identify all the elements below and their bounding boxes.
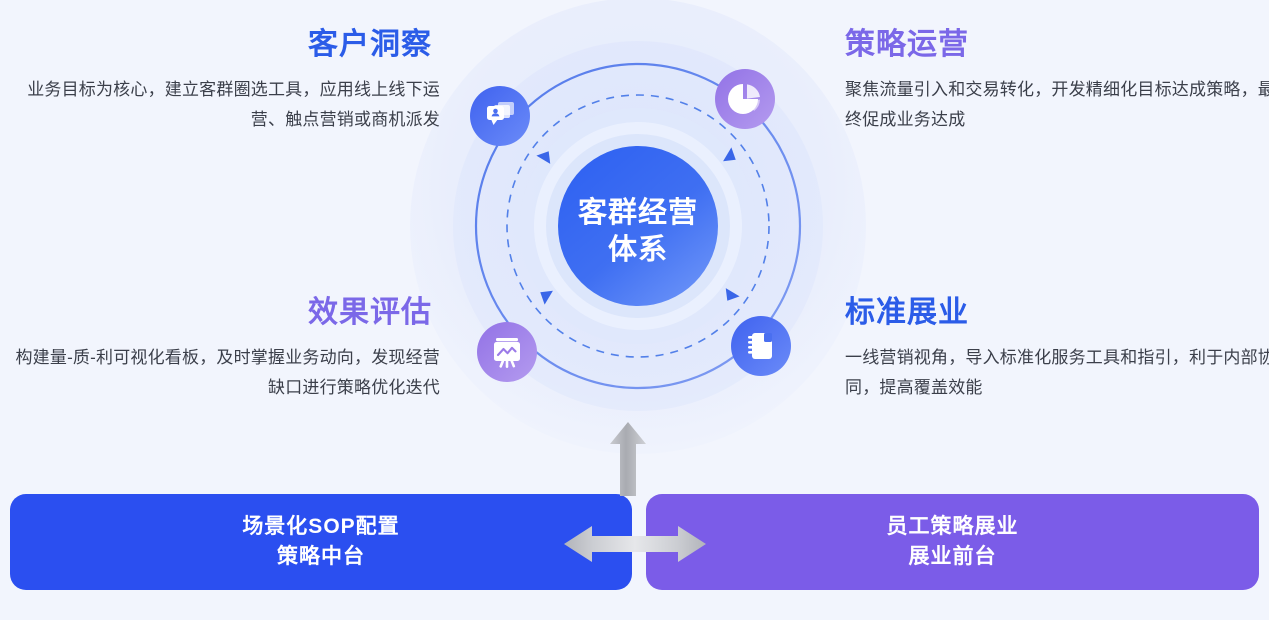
quadrant-title: 效果评估	[10, 296, 440, 329]
icon-node-effect-evaluation[interactable]	[477, 322, 537, 382]
icon-node-strategy-operation[interactable]	[715, 69, 775, 129]
diagram-canvas: 客群经营 体系 客户洞察 业务目标为核心，建立客群圈选工具，应用线上线下运营、触…	[0, 0, 1269, 620]
icon-node-customer-insight[interactable]	[470, 86, 530, 146]
bar-left-line2: 策略中台	[242, 542, 399, 572]
bar-strategy-midplatform[interactable]: 场景化SOP配置 策略中台	[10, 494, 632, 590]
quadrant-standard-business: 标准展业 一线营销视角，导入标准化服务工具和指引，利于内部协同，提高覆盖效能	[845, 296, 1269, 403]
icon-node-standard-business[interactable]	[731, 316, 791, 376]
quadrant-description: 一线营销视角，导入标准化服务工具和指引，利于内部协同，提高覆盖效能	[845, 343, 1269, 403]
bar-right-line1: 员工策略展业	[887, 512, 1019, 542]
bar-left-line1: 场景化SOP配置	[242, 512, 399, 542]
quadrant-title: 策略运营	[845, 28, 1269, 61]
quadrant-strategy-operation: 策略运营 聚焦流量引入和交易转化，开发精细化目标达成策略，最终促成业务达成	[845, 28, 1269, 135]
quadrant-effect-evaluation: 效果评估 构建量-质-利可视化看板，及时掌握业务动向，发现经营缺口进行策略优化迭…	[10, 296, 440, 403]
quadrant-title: 标准展业	[845, 296, 1269, 329]
bar-right-line2: 展业前台	[887, 542, 1019, 572]
up-arrow-icon	[608, 420, 648, 496]
bar-business-frontend[interactable]: 员工策略展业 展业前台	[646, 494, 1259, 590]
quadrant-customer-insight: 客户洞察 业务目标为核心，建立客群圈选工具，应用线上线下运营、触点营销或商机派发	[10, 28, 440, 135]
core-label-line1: 客群经营	[578, 195, 698, 229]
quadrant-description: 构建量-质-利可视化看板，及时掌握业务动向，发现经营缺口进行策略优化迭代	[10, 343, 440, 403]
double-headed-arrow-icon	[562, 524, 708, 564]
core-label-line2: 体系	[608, 233, 668, 266]
quadrant-description: 聚焦流量引入和交易转化，开发精细化目标达成策略，最终促成业务达成	[845, 75, 1269, 135]
orbit-system: 客群经营 体系	[398, 0, 878, 474]
quadrant-description: 业务目标为核心，建立客群圈选工具，应用线上线下运营、触点营销或商机派发	[10, 75, 440, 135]
quadrant-title: 客户洞察	[10, 28, 440, 61]
